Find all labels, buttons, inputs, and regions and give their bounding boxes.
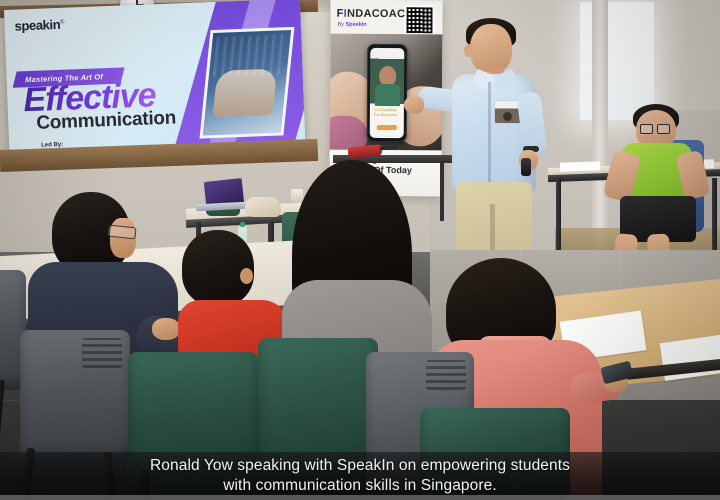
caption-overlay: Ronald Yow speaking with SpeakIn on empo…	[0, 452, 720, 500]
photo-canvas: speakin® Mastering The Art Of Effective …	[0, 0, 720, 500]
slide-logo: speakin®	[14, 17, 64, 34]
slide-logo-text: speakin	[14, 17, 60, 34]
banner-byline: By SpeakIn	[337, 22, 366, 28]
desk-leg	[712, 178, 717, 252]
desk-leg	[556, 178, 561, 252]
speaker-head	[470, 24, 512, 74]
speaker-ear	[464, 44, 473, 57]
phone-coach-body	[375, 84, 400, 106]
caption-line-1: Ronald Yow speaking with SpeakIn on empo…	[150, 456, 570, 476]
phone-caption-text: 1:1 Coaching For Everyone	[374, 108, 400, 117]
audience-boy-ear	[240, 268, 253, 284]
slide-logo-mark: ®	[60, 19, 64, 25]
phone-cta-button	[377, 125, 397, 130]
phone-screen: 1:1 Coaching For Everyone	[370, 48, 405, 138]
chair-vent-slots	[82, 338, 122, 368]
qr-code-icon	[404, 5, 434, 35]
presentation-clicker	[521, 158, 531, 176]
desk-paper	[560, 161, 600, 171]
tote-bag	[245, 197, 281, 217]
speaker-hand-left	[404, 96, 424, 114]
slide-surface: speakin® Mastering The Art Of Effective …	[4, 0, 306, 162]
paper-cup	[291, 189, 303, 203]
chair-vent-slots	[426, 360, 466, 390]
caption-line-2: with communication skills in Singapore.	[223, 476, 497, 496]
chair-back	[20, 330, 130, 462]
slide-subheadline: Communication	[36, 107, 176, 134]
banner-title: FINDACOACH	[337, 8, 414, 21]
banner-phone-mockup: 1:1 Coaching For Everyone	[367, 44, 408, 142]
boy-glasses-icon	[640, 124, 670, 132]
banner-byline-prefix: By	[337, 22, 345, 28]
banner-byline-brand: SpeakIn	[345, 22, 366, 28]
audience-man-hand	[152, 318, 180, 340]
speaker-shirt-placket	[488, 82, 491, 190]
caption-bottom-bar	[0, 495, 720, 500]
table-leg	[440, 163, 444, 221]
slide-handshake-photo	[199, 27, 294, 139]
